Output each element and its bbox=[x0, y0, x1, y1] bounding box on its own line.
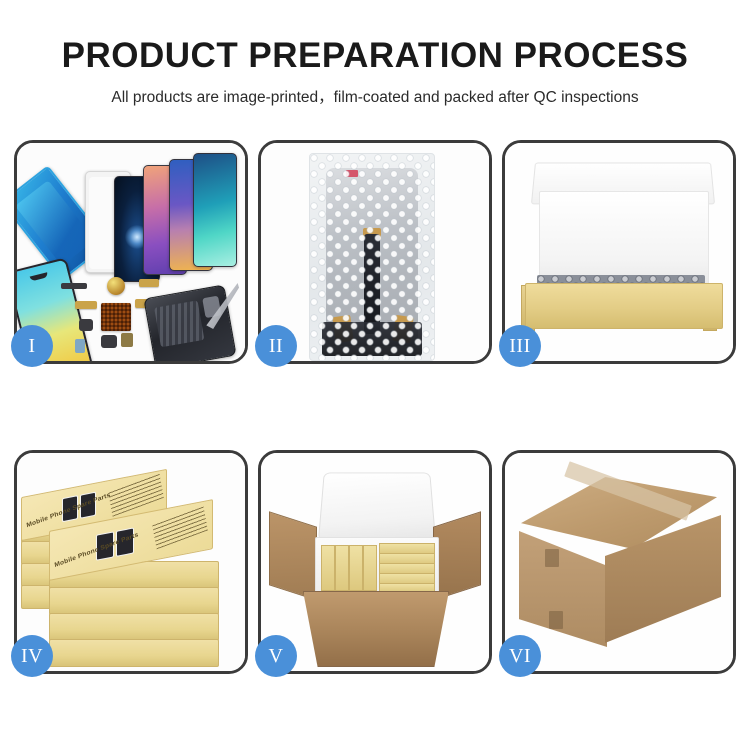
page-title: PRODUCT PREPARATION PROCESS bbox=[0, 0, 750, 76]
step-2-image bbox=[261, 143, 489, 361]
process-step-grid: I II bbox=[14, 140, 736, 674]
battery-connector-part bbox=[101, 335, 117, 348]
bubble-texture-overlay bbox=[310, 154, 434, 360]
step-3-image bbox=[505, 143, 733, 361]
carton-flap-left bbox=[269, 511, 317, 601]
step-1-image bbox=[17, 143, 245, 361]
stacked-box bbox=[49, 639, 219, 667]
speaker-bar-part bbox=[61, 283, 87, 289]
carton-left-face bbox=[519, 531, 607, 647]
phone-screen-teal bbox=[193, 153, 237, 267]
packed-box bbox=[349, 545, 363, 591]
flex-cable-part-a bbox=[139, 279, 159, 287]
step-badge-6: VI bbox=[499, 635, 541, 677]
step-6-image bbox=[505, 453, 733, 671]
packed-box bbox=[363, 545, 377, 591]
packed-box bbox=[335, 545, 349, 591]
vibrator-part bbox=[79, 319, 93, 331]
carton-flap-right bbox=[433, 511, 481, 601]
button-part bbox=[121, 333, 133, 347]
foam-lid bbox=[318, 473, 436, 541]
process-step-panel-1[interactable]: I bbox=[14, 140, 248, 364]
phone-back-housing bbox=[143, 284, 236, 361]
flex-cable-part-c bbox=[75, 301, 97, 309]
process-step-panel-4[interactable]: Mobile Phone Spare Parts Mobile Phone Sp… bbox=[14, 450, 248, 674]
step-badge-4: IV bbox=[11, 635, 53, 677]
step-badge-2: II bbox=[255, 325, 297, 367]
yellow-box-tray bbox=[525, 283, 723, 329]
step-4-image: Mobile Phone Spare Parts Mobile Phone Sp… bbox=[17, 453, 245, 671]
step-badge-5: V bbox=[255, 635, 297, 677]
step-5-image bbox=[261, 453, 489, 671]
carton-notch-bottom bbox=[549, 611, 563, 629]
process-step-panel-2[interactable]: II bbox=[258, 140, 492, 364]
step-badge-3: III bbox=[499, 325, 541, 367]
bubble-wrap-bag bbox=[309, 153, 435, 361]
stacked-box bbox=[49, 613, 219, 641]
camera-lens-part bbox=[107, 277, 125, 295]
mesh-grid-part bbox=[101, 303, 131, 331]
process-step-panel-3[interactable]: III bbox=[502, 140, 736, 364]
page-header: PRODUCT PREPARATION PROCESS All products… bbox=[0, 0, 750, 107]
stacked-box bbox=[49, 587, 219, 615]
process-step-panel-6[interactable]: VI bbox=[502, 450, 736, 674]
lid-spec-lines bbox=[152, 506, 208, 550]
process-step-panel-5[interactable]: V bbox=[258, 450, 492, 674]
carton-notch-top bbox=[545, 549, 559, 567]
step-badge-1: I bbox=[11, 325, 53, 367]
carton-body bbox=[303, 591, 449, 667]
packed-box bbox=[321, 545, 335, 591]
page-subtitle: All products are image-printed，film-coat… bbox=[0, 76, 750, 107]
sim-tray-part bbox=[75, 339, 85, 353]
